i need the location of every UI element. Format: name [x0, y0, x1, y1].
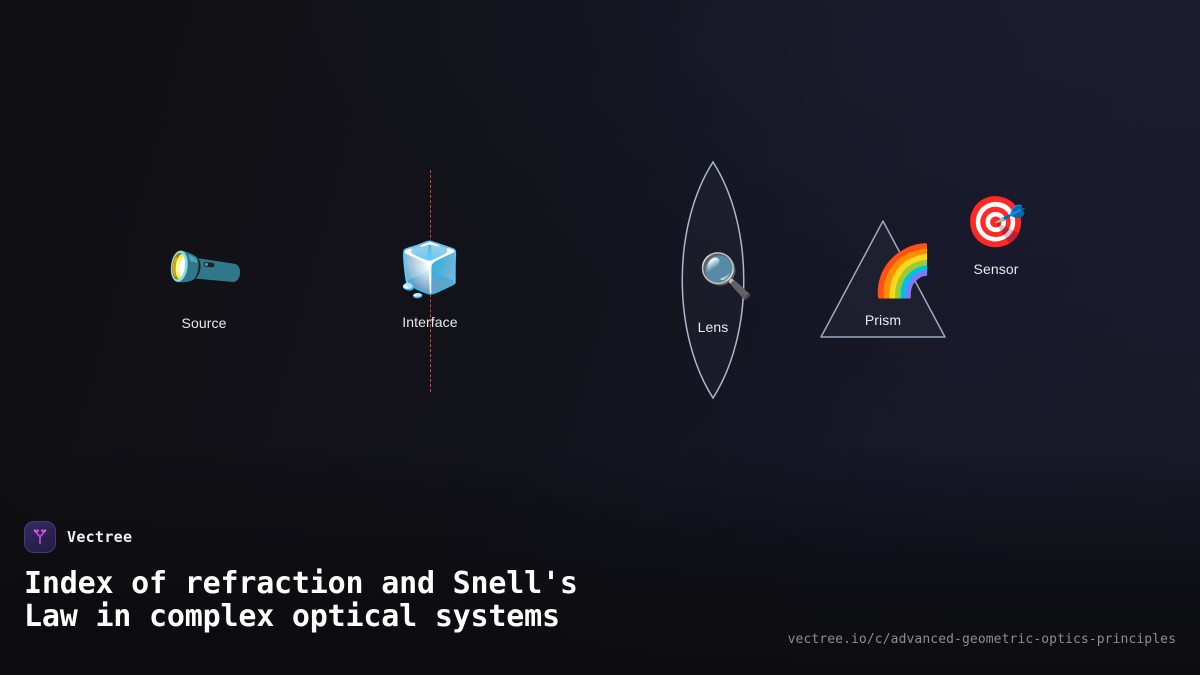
rainbow-icon: 🌈	[872, 246, 934, 296]
page-headline: Index of refraction and Snell's Law in c…	[24, 567, 784, 634]
ice-cube-icon: 🧊	[398, 244, 463, 296]
target-icon: 🎯	[965, 197, 1027, 247]
optical-node-prism[interactable]: 🌈 Prism	[827, 232, 939, 342]
optical-node-label: Prism	[865, 312, 901, 328]
magnifying-glass-icon: 🔍	[699, 255, 754, 299]
optical-node-source[interactable]: 🔦 Source	[148, 232, 260, 342]
optical-node-label: Interface	[402, 314, 457, 330]
optical-node-label: Sensor	[974, 261, 1019, 277]
brand-name: Vectree	[67, 528, 132, 546]
optical-node-sensor[interactable]: 🎯 Sensor	[940, 186, 1052, 288]
flashlight-icon: 🔦	[161, 228, 247, 312]
brand-lockup[interactable]: Vectree	[24, 521, 132, 553]
optical-node-interface[interactable]: 🧊 Interface	[374, 232, 486, 342]
footer-url: vectree.io/c/advanced-geometric-optics-p…	[788, 632, 1176, 647]
optical-node-label: Lens	[698, 319, 729, 335]
optical-node-lens[interactable]: 🔍 Lens	[657, 240, 769, 350]
optical-node-label: Source	[182, 315, 227, 331]
vectree-logo-icon	[24, 521, 56, 553]
footer: Vectree Index of refraction and Snell's …	[0, 515, 1200, 675]
diagram-canvas: 🔦 Source 🧊 Interface 🔍 Lens 🌈 Prism 🎯 Se…	[0, 0, 1200, 675]
